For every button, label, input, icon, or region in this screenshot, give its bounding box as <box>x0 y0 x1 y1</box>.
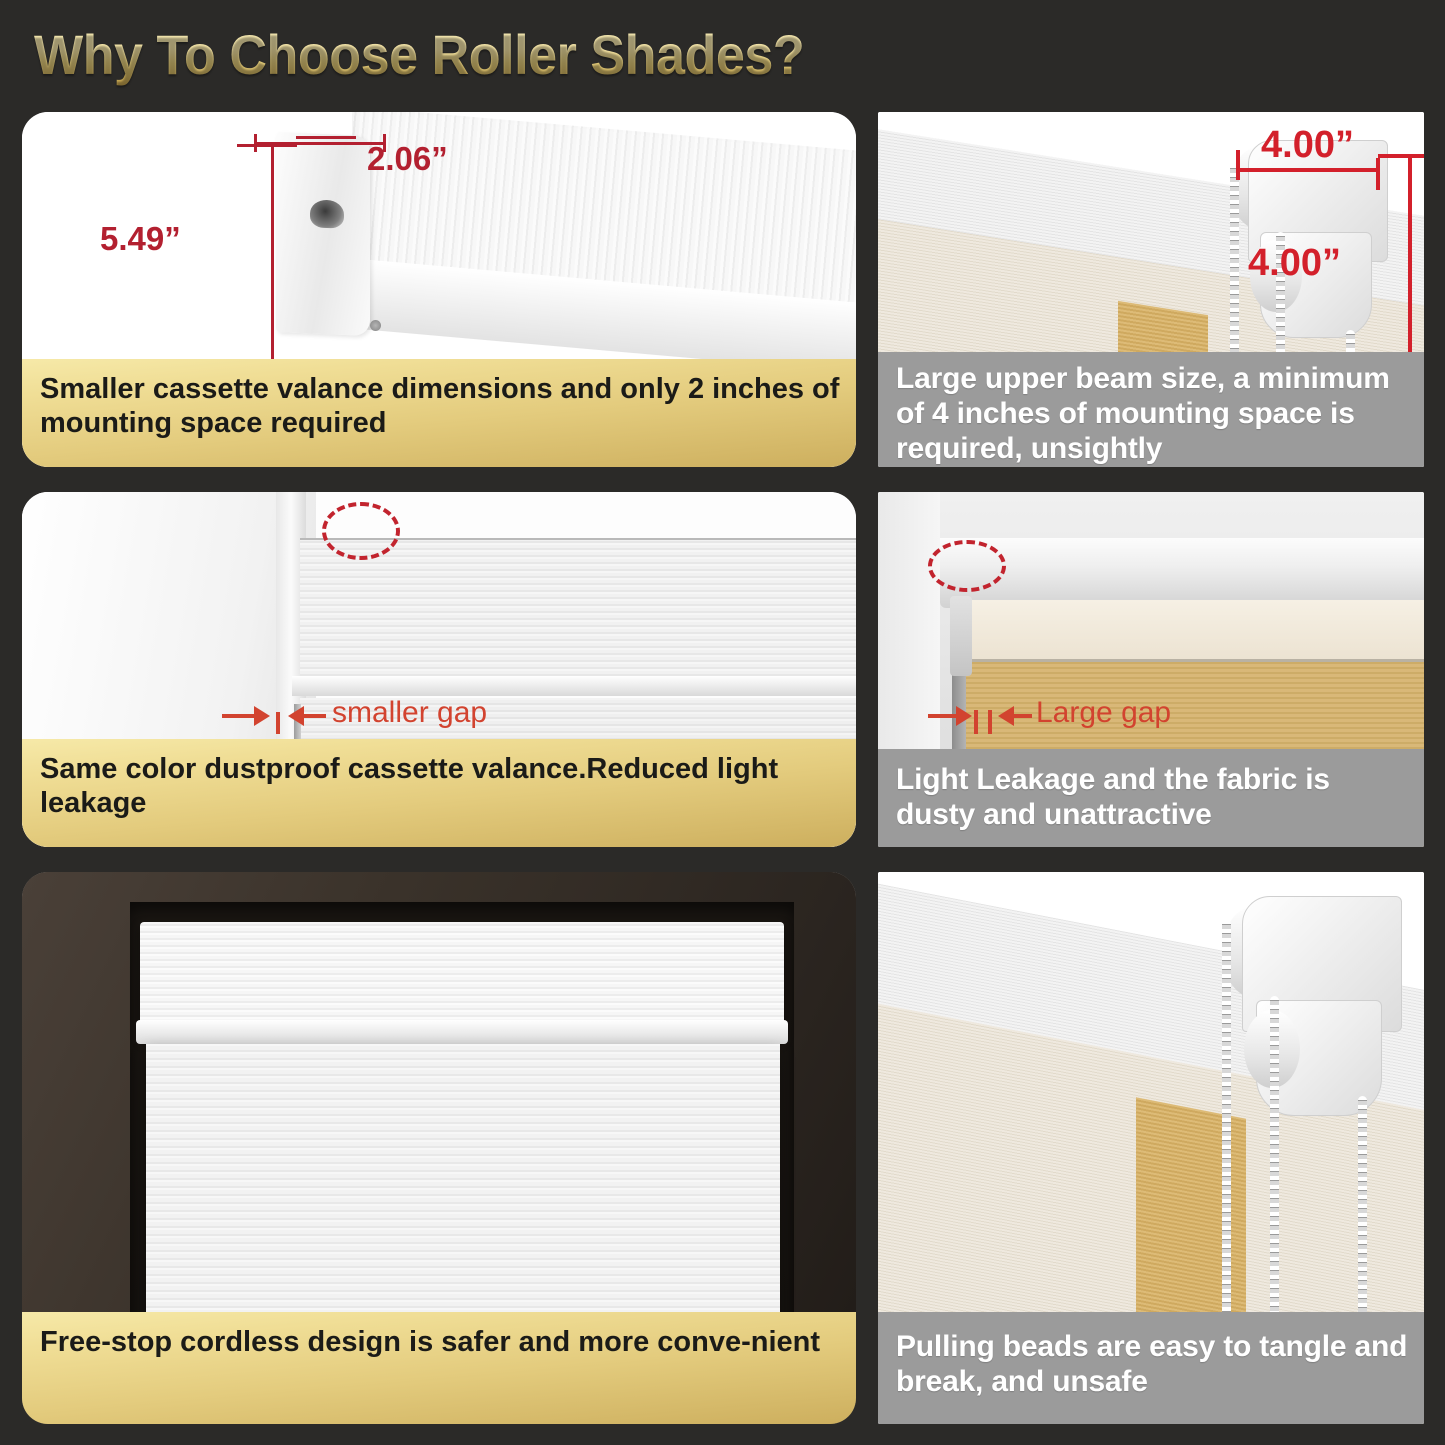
gap-arrow-left-head <box>956 706 972 726</box>
infographic-root: Why To Choose Roller Shades? 2.06” <box>0 0 1445 1445</box>
beam-height-line <box>1408 156 1412 374</box>
panel-pulling-beads: Pulling beads are easy to tangle and bre… <box>878 872 1424 1424</box>
panel-dustproof-valance: smaller gap Same color dustproof cassett… <box>22 492 856 847</box>
width-dimension-label: 2.06” <box>367 140 448 178</box>
gap-arrow-left-shaft <box>928 714 958 718</box>
caption-text: Light Leakage and the fabric is dusty an… <box>896 763 1330 831</box>
beam-width-label: 4.00” <box>1261 124 1354 167</box>
height-dimension-label: 5.49” <box>100 220 181 258</box>
gap-arrow-right-head <box>288 706 304 726</box>
beam-width-line <box>1238 168 1380 172</box>
panel-large-upper-beam: 4.00” 4.00” Large upper beam size, a min… <box>878 112 1424 467</box>
panel-free-stop-cordless: Free-Stop Free-stop cordless design is s… <box>22 872 856 1424</box>
caption-cassette-dimensions: Smaller cassette valance dimensions and … <box>22 359 856 467</box>
width-dimension-top-rule <box>296 136 356 139</box>
caption-text: Pulling beads are easy to tangle and bre… <box>896 1330 1407 1398</box>
panel-grid: 2.06” 5.49” Smaller cassette valance dim… <box>22 112 1424 1424</box>
beam-height-tick-top <box>1378 154 1424 158</box>
caption-light-leakage: Light Leakage and the fabric is dusty an… <box>878 749 1424 847</box>
height-dimension-tick-top <box>237 144 297 147</box>
caption-dustproof-valance: Same color dustproof cassette valance.Re… <box>22 739 856 847</box>
gap-label: Large gap <box>1036 696 1171 730</box>
gap-highlight-circle <box>928 540 1006 592</box>
caption-pulling-beads: Pulling beads are easy to tangle and bre… <box>878 1312 1424 1424</box>
gap-arrow-right-head <box>998 706 1014 726</box>
caption-text: Smaller cassette valance dimensions and … <box>40 373 839 439</box>
gap-highlight-circle <box>322 502 400 560</box>
gap-marker-line-b <box>988 710 992 734</box>
gap-arrow-right-shaft <box>304 714 326 718</box>
page-title: Why To Choose Roller Shades? <box>34 22 804 87</box>
caption-free-stop-cordless: Free-stop cordless design is safer and m… <box>22 1312 856 1424</box>
panel-cassette-dimensions: 2.06” 5.49” Smaller cassette valance dim… <box>22 112 856 467</box>
gap-label: smaller gap <box>332 696 487 730</box>
beam-width-tick-right <box>1376 158 1380 190</box>
panel-light-leakage: Large gap Light Leakage and the fabric i… <box>878 492 1424 847</box>
gap-arrow-left-shaft <box>222 714 256 718</box>
gap-arrow-left-head <box>254 706 270 726</box>
width-dimension-tick-left <box>254 134 257 152</box>
caption-text: Large upper beam size, a minimum of 4 in… <box>896 362 1390 465</box>
caption-text: Same color dustproof cassette valance.Re… <box>40 753 778 819</box>
beam-height-label: 4.00” <box>1248 242 1341 285</box>
caption-large-upper-beam: Large upper beam size, a minimum of 4 in… <box>878 352 1424 467</box>
gap-marker-line-a <box>974 710 978 734</box>
caption-text: Free-stop cordless design is safer and m… <box>40 1326 820 1358</box>
beam-width-tick-left <box>1236 150 1240 180</box>
gap-arrow-right-shaft <box>1014 714 1032 718</box>
gap-marker-line <box>276 712 280 734</box>
